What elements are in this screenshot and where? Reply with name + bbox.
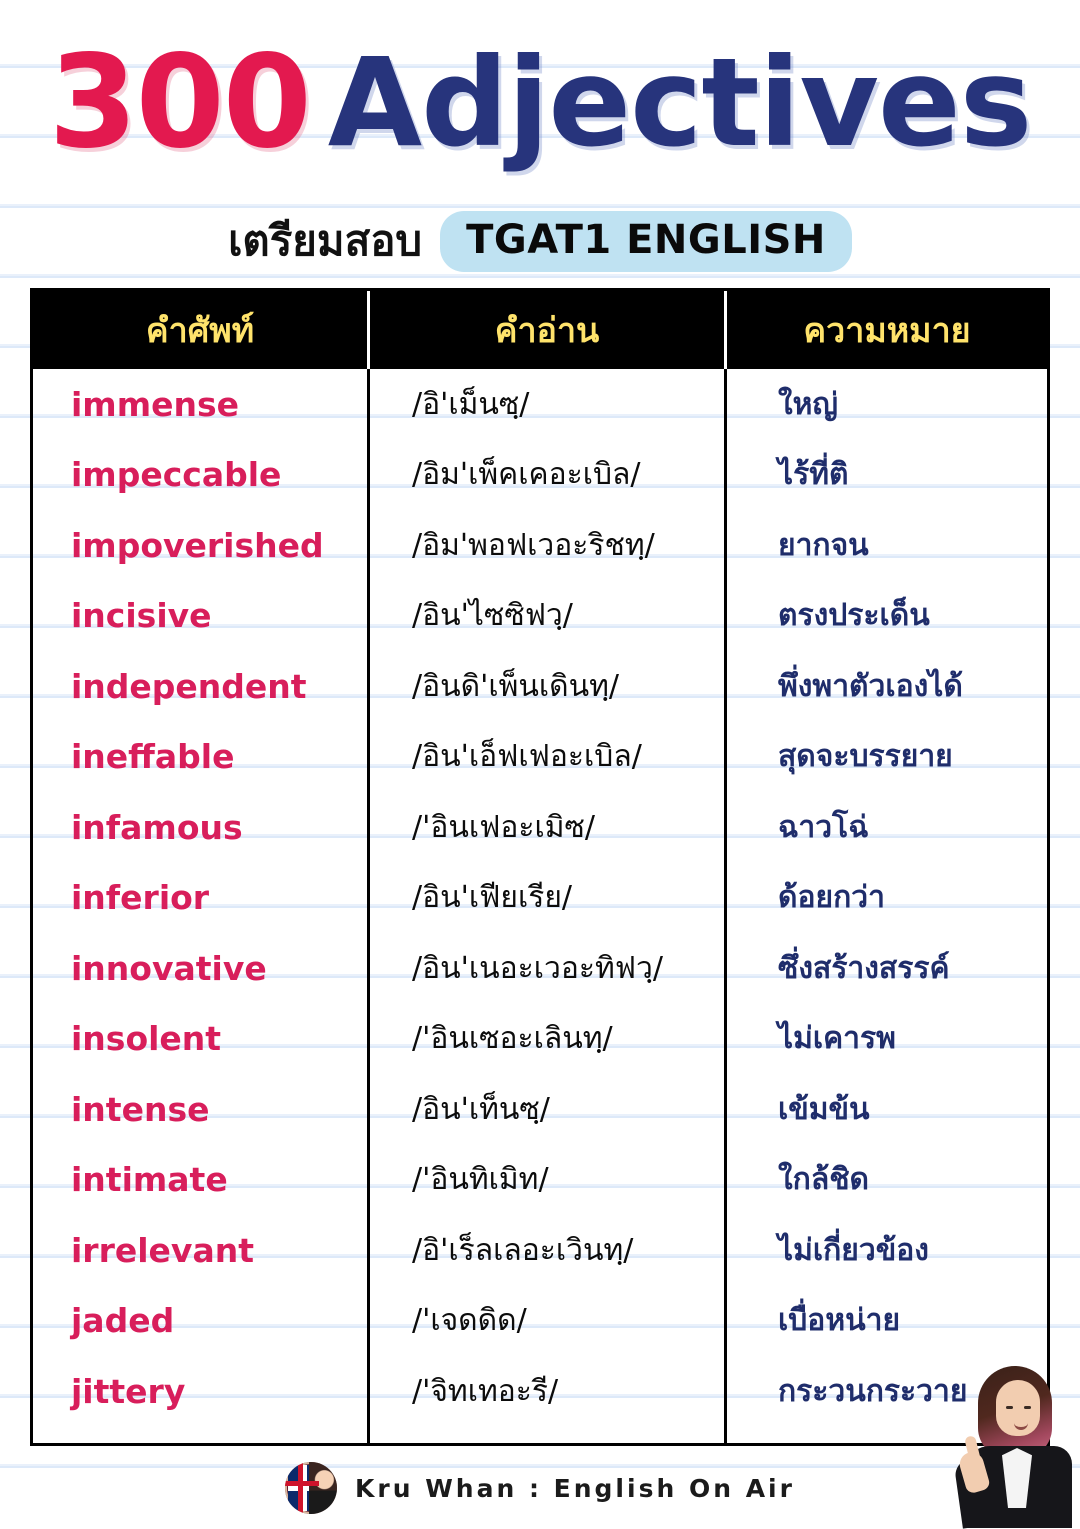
title-word: Adjectives	[328, 32, 1032, 174]
cell-reading: /'อินเซอะเลินทฺ/	[367, 1004, 724, 1075]
table-row: impeccable/อิม'เพ็คเคอะเบิล/ไร้ที่ติ	[33, 440, 1047, 511]
cell-reading: /'เจดดิด/	[367, 1286, 724, 1357]
table-row: jittery/'จิทเทอะรี/กระวนกระวาย	[33, 1356, 1047, 1427]
cell-word: ineffable	[33, 722, 367, 793]
cell-word: intense	[33, 1074, 367, 1145]
uk-flag-avatar-icon	[285, 1462, 337, 1514]
table-row: intense/อิน'เท็นซฺ/เข้มข้น	[33, 1074, 1047, 1145]
table-row: impoverished/อิม'พอฟเวอะริชทฺ/ยากจน	[33, 510, 1047, 581]
cell-word: jaded	[33, 1286, 367, 1357]
cell-meaning: ยากจน	[724, 510, 1047, 581]
subtitle-prefix: เตรียมสอบ	[228, 216, 422, 265]
table-row: jaded/'เจดดิด/เบื่อหน่าย	[33, 1286, 1047, 1357]
cell-reading: /'อินเฟอะเมิซ/	[367, 792, 724, 863]
table-row: irrelevant/อิ'เร็ลเลอะเวินทฺ/ไม่เกี่ยวข้…	[33, 1215, 1047, 1286]
title-number: 300	[49, 28, 310, 177]
column-divider-2	[724, 369, 727, 1443]
page-title: 300Adjectives	[0, 28, 1080, 177]
avatar-face-icon	[309, 1462, 337, 1514]
cell-reading: /อิ'เม็นซฺ/	[367, 369, 724, 440]
cell-reading: /'อินทิเมิท/	[367, 1145, 724, 1216]
subtitle: เตรียมสอบTGAT1 ENGLISH	[0, 208, 1080, 274]
cell-meaning: ไร้ที่ติ	[724, 440, 1047, 511]
cell-reading: /อิม'เพ็คเคอะเบิล/	[367, 440, 724, 511]
column-header-meaning: ความหมาย	[724, 291, 1047, 369]
cell-meaning: ไม่เคารพ	[724, 1004, 1047, 1075]
poster-page: 300Adjectives เตรียมสอบTGAT1 ENGLISH คำศ…	[0, 0, 1080, 1528]
cell-word: impoverished	[33, 510, 367, 581]
table-header-row: คำศัพท์ คำอ่าน ความหมาย	[33, 291, 1047, 369]
cell-meaning: ด้อยกว่า	[724, 863, 1047, 934]
table-row: inferior/อิน'เฟียเรีย/ด้อยกว่า	[33, 863, 1047, 934]
cell-meaning: สุดจะบรรยาย	[724, 722, 1047, 793]
cell-meaning: ใหญ่	[724, 369, 1047, 440]
table-row: innovative/อิน'เนอะเวอะทิฟวฺ/ซึ่งสร้างสร…	[33, 933, 1047, 1004]
uk-flag-cross-vertical	[298, 1462, 303, 1514]
cell-reading: /อิน'เนอะเวอะทิฟวฺ/	[367, 933, 724, 1004]
cell-word: incisive	[33, 581, 367, 652]
vocabulary-table: คำศัพท์ คำอ่าน ความหมาย immense/อิ'เม็นซ…	[30, 288, 1050, 1446]
cell-meaning: เบื่อหน่าย	[724, 1286, 1047, 1357]
table-body: immense/อิ'เม็นซฺ/ใหญ่impeccable/อิม'เพ็…	[33, 369, 1047, 1443]
cell-meaning: พึ่งพาตัวเองได้	[724, 651, 1047, 722]
table-row: incisive/อิน'ไซซิฟวฺ/ตรงประเด็น	[33, 581, 1047, 652]
table-row: insolent/'อินเซอะเลินทฺ/ไม่เคารพ	[33, 1004, 1047, 1075]
brand-name: Kru Whan : English On Air	[355, 1474, 795, 1503]
cell-reading: /อิน'เท็นซฺ/	[367, 1074, 724, 1145]
cell-word: intimate	[33, 1145, 367, 1216]
cell-word: immense	[33, 369, 367, 440]
cell-word: irrelevant	[33, 1215, 367, 1286]
column-header-word: คำศัพท์	[33, 291, 367, 369]
cell-word: innovative	[33, 933, 367, 1004]
column-divider-1	[367, 369, 370, 1443]
cell-meaning: ตรงประเด็น	[724, 581, 1047, 652]
table-row: intimate/'อินทิเมิท/ใกล้ชิด	[33, 1145, 1047, 1216]
cell-meaning: ไม่เกี่ยวข้อง	[724, 1215, 1047, 1286]
cell-reading: /อิ'เร็ลเลอะเวินทฺ/	[367, 1215, 724, 1286]
table-row: ineffable/อิน'เอ็ฟเฟอะเบิล/สุดจะบรรยาย	[33, 722, 1047, 793]
cell-word: inferior	[33, 863, 367, 934]
subtitle-badge: TGAT1 ENGLISH	[440, 211, 852, 272]
uk-flag-cross-horizontal	[285, 1481, 319, 1486]
cell-reading: /อิน'เฟียเรีย/	[367, 863, 724, 934]
cell-reading: /อิน'ไซซิฟวฺ/	[367, 581, 724, 652]
cell-word: independent	[33, 651, 367, 722]
cell-reading: /'จิทเทอะรี/	[367, 1356, 724, 1427]
table-row: infamous/'อินเฟอะเมิซ/ฉาวโฉ่	[33, 792, 1047, 863]
column-header-reading: คำอ่าน	[367, 291, 724, 369]
cell-meaning: ซึ่งสร้างสรรค์	[724, 933, 1047, 1004]
cell-meaning: ใกล้ชิด	[724, 1145, 1047, 1216]
cell-meaning: เข้มข้น	[724, 1074, 1047, 1145]
cell-word: infamous	[33, 792, 367, 863]
cell-word: insolent	[33, 1004, 367, 1075]
table-row: immense/อิ'เม็นซฺ/ใหญ่	[33, 369, 1047, 440]
cell-reading: /อิม'พอฟเวอะริชทฺ/	[367, 510, 724, 581]
cell-reading: /อินดิ'เพ็นเดินทฺ/	[367, 651, 724, 722]
table-row: independent/อินดิ'เพ็นเดินทฺ/พึ่งพาตัวเอ…	[33, 651, 1047, 722]
cell-meaning: กระวนกระวาย	[724, 1356, 1047, 1427]
cell-reading: /อิน'เอ็ฟเฟอะเบิล/	[367, 722, 724, 793]
cell-word: impeccable	[33, 440, 367, 511]
cell-word: jittery	[33, 1356, 367, 1427]
footer-brand: Kru Whan : English On Air	[0, 1462, 1080, 1514]
cell-meaning: ฉาวโฉ่	[724, 792, 1047, 863]
